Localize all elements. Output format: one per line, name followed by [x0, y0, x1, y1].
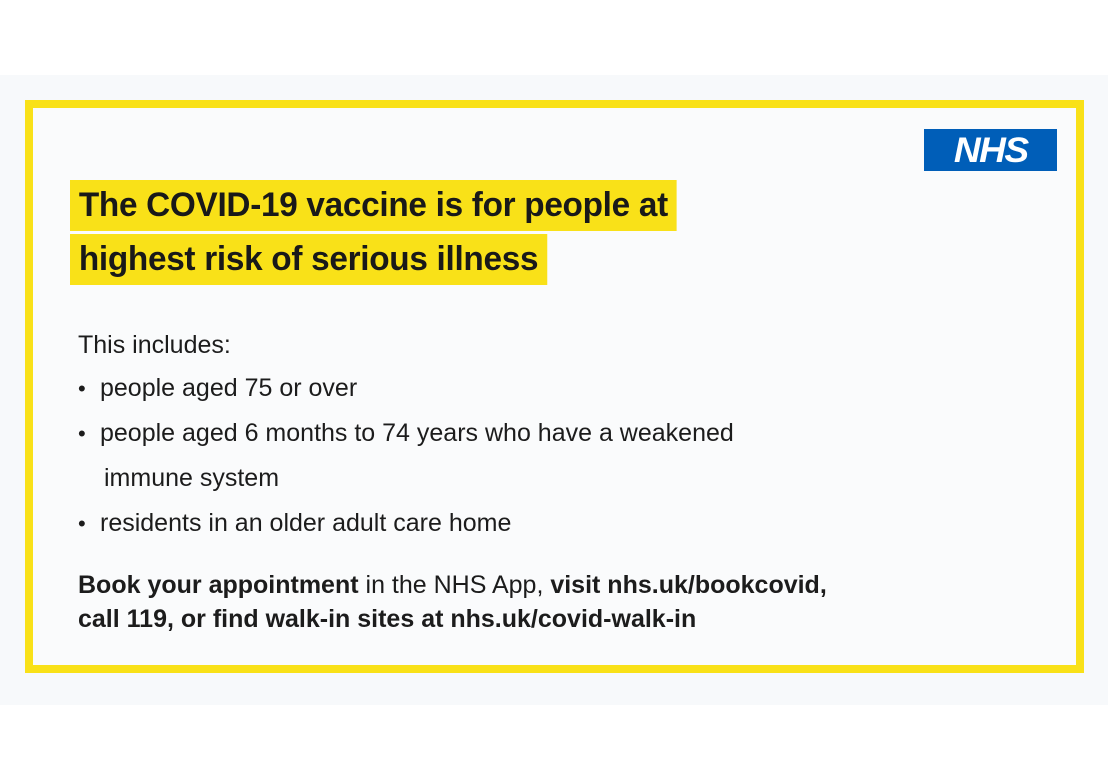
heading-line-2: highest risk of serious illness — [70, 234, 547, 285]
list-item-text: people aged 6 months to 74 years who hav… — [100, 419, 734, 447]
eligibility-body: This includes: people aged 75 or over pe… — [78, 324, 1038, 546]
list-item: people aged 6 months to 74 years who hav… — [78, 411, 1038, 501]
poster-inner: NHS The COVID-19 vaccine is for people a… — [33, 108, 1076, 665]
eligibility-list: people aged 75 or over people aged 6 mon… — [78, 366, 1038, 546]
nhs-logo: NHS — [924, 129, 1057, 171]
list-item-text-wrap: immune system — [100, 456, 1038, 501]
cta-nhs-app: in the NHS App, — [359, 571, 544, 599]
call-to-action: Book your appointment in the NHS App, vi… — [78, 568, 1073, 636]
cta-line-2: call 119, or find walk-in sites at nhs.u… — [78, 602, 1073, 636]
list-item-text: people aged 75 or over — [100, 374, 357, 402]
nhs-logo-text: NHS — [954, 133, 1028, 168]
cta-book-url: visit nhs.uk/bookcovid, — [543, 571, 826, 599]
page-title: The COVID-19 vaccine is for people at hi… — [70, 180, 970, 288]
list-item: residents in an older adult care home — [78, 501, 1038, 546]
list-item-text: residents in an older adult care home — [100, 509, 511, 537]
nhs-covid-vaccine-poster: NHS The COVID-19 vaccine is for people a… — [25, 100, 1084, 673]
eligibility-intro: This includes: — [78, 324, 1038, 366]
cta-phone-and-walkin: call 119, or find walk-in sites at nhs.u… — [78, 605, 696, 633]
cta-line-1: Book your appointment in the NHS App, vi… — [78, 568, 1073, 602]
list-item: people aged 75 or over — [78, 366, 1038, 411]
cta-book-appointment: Book your appointment — [78, 571, 359, 599]
heading-line-1: The COVID-19 vaccine is for people at — [70, 180, 677, 231]
